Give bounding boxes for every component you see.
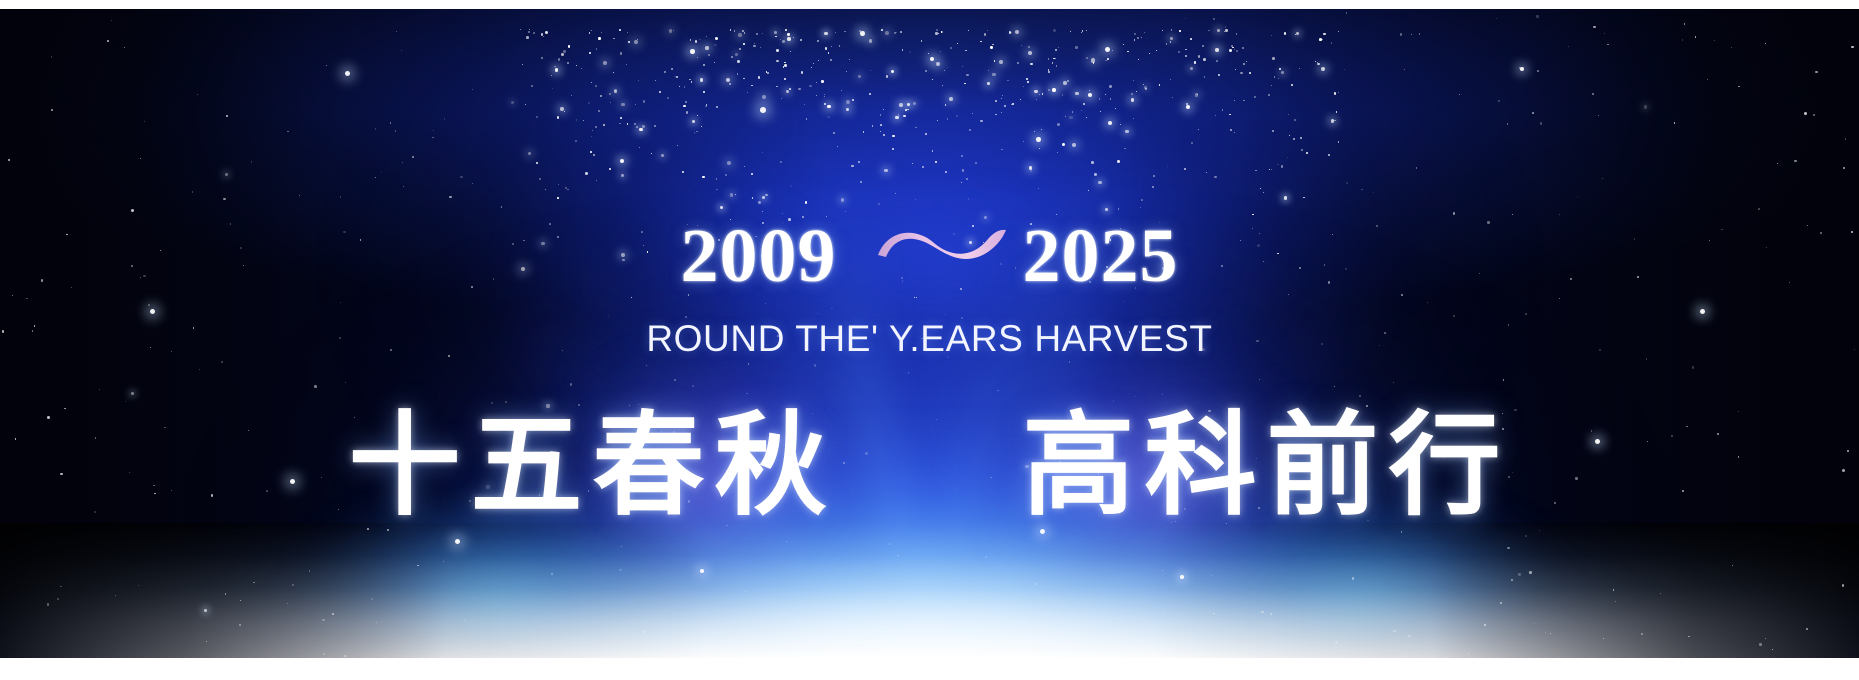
night-sky-background — [0, 9, 1859, 658]
anniversary-banner: 2009 2025 ROUND THE' Y.EARS HA — [0, 0, 1859, 680]
bottom-letterbox-strip — [0, 658, 1859, 680]
top-letterbox-strip — [0, 0, 1859, 9]
bottom-light-halo — [180, 408, 1680, 658]
